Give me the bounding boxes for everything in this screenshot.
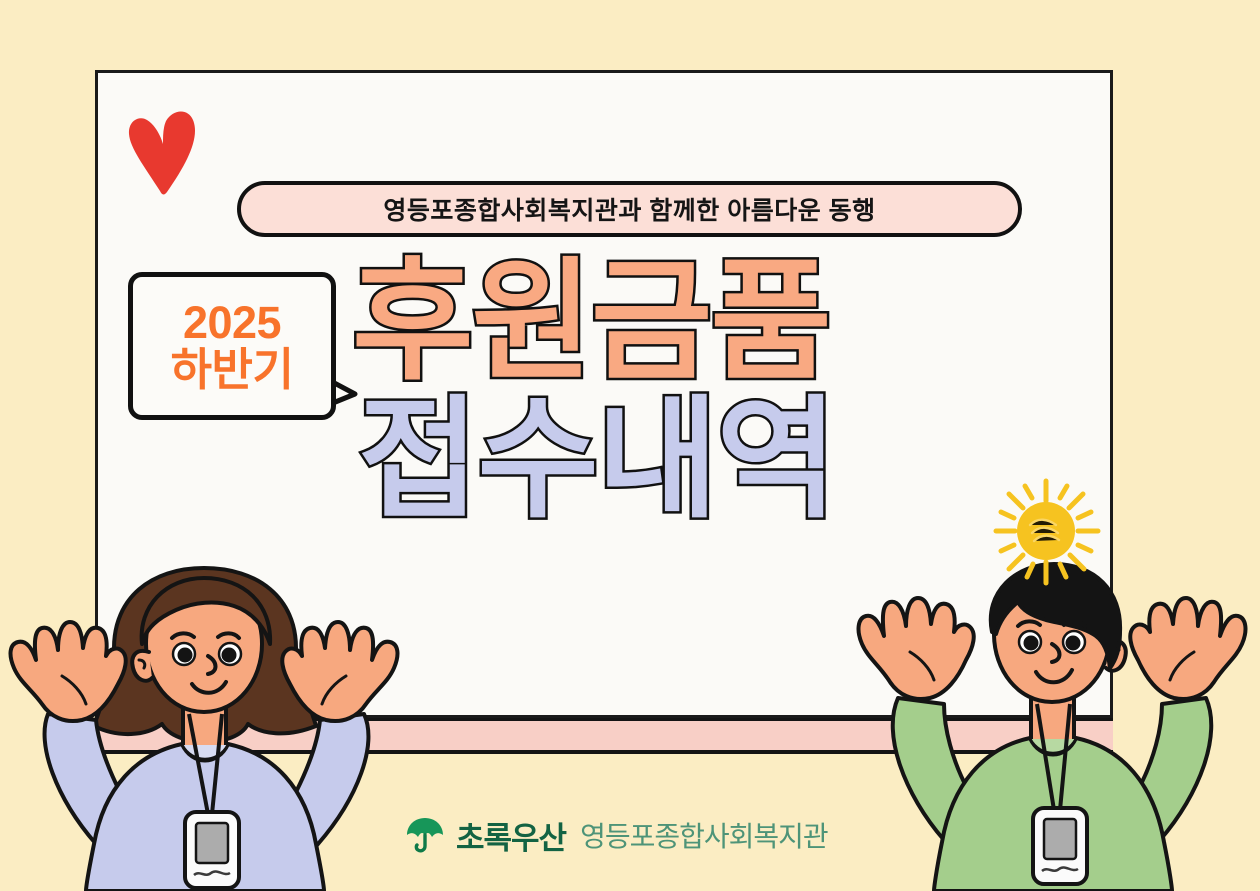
- page-title: 후원금품 접수내역: [352, 258, 927, 524]
- right-hand: [1130, 598, 1245, 699]
- left-hand: [859, 598, 974, 699]
- id-badge: [1033, 808, 1087, 884]
- footer-organization: 영등포종합사회복지관: [580, 815, 828, 855]
- woman-cheering-illustration: [0, 548, 422, 891]
- page-title-line-2: 접수내역: [358, 396, 927, 524]
- footer-brand: 초록우산: [456, 813, 566, 858]
- year-speech-bubble: 2025 하반기: [128, 272, 336, 420]
- man-cheering-illustration: [832, 548, 1260, 891]
- footer-logo: 초록우산 영등포종합사회복지관: [404, 812, 828, 858]
- subtitle-banner: 영등포종합사회복지관과 함께한 아름다운 동행: [237, 181, 1022, 237]
- year-label: 2025: [183, 300, 281, 346]
- umbrella-icon: [404, 816, 446, 854]
- page-title-line-1: 후원금품: [352, 258, 927, 386]
- poster-canvas: 영등포종합사회복지관과 함께한 아름다운 동행 2025 하반기 후원금품 접수…: [0, 0, 1260, 891]
- sun-icon: [982, 467, 1110, 595]
- subtitle-text: 영등포종합사회복지관과 함께한 아름다운 동행: [383, 191, 875, 227]
- id-badge: [185, 812, 239, 888]
- heart-icon: [122, 104, 206, 196]
- half-year-label: 하반기: [171, 347, 294, 393]
- ear: [132, 651, 152, 681]
